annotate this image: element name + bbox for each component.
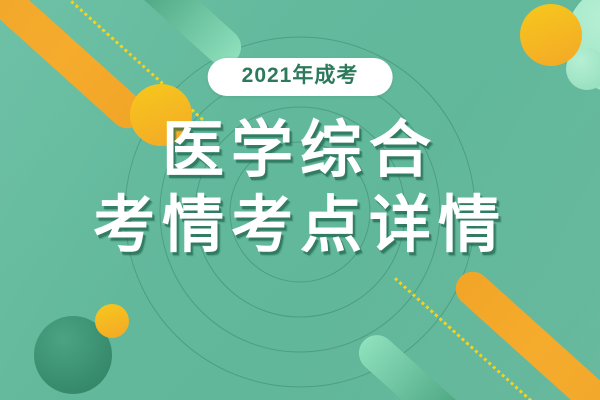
headline-line-secondary: 考情考点详情 (0, 193, 600, 260)
circle-yellow-top-right (520, 4, 582, 66)
poster-banner: 2021年成考 医学综合 考情考点详情 (0, 0, 600, 400)
bar-yellow-top-left (0, 0, 151, 135)
year-badge: 2021年成考 (208, 58, 393, 96)
circle-yellow-bottom-left (95, 304, 129, 338)
year-badge-label: 2021年成考 (242, 64, 359, 88)
headline: 医学综合 考情考点详情 (0, 118, 600, 260)
bar-yellow-bottom-right (449, 265, 600, 400)
headline-line-primary: 医学综合 (0, 118, 600, 185)
